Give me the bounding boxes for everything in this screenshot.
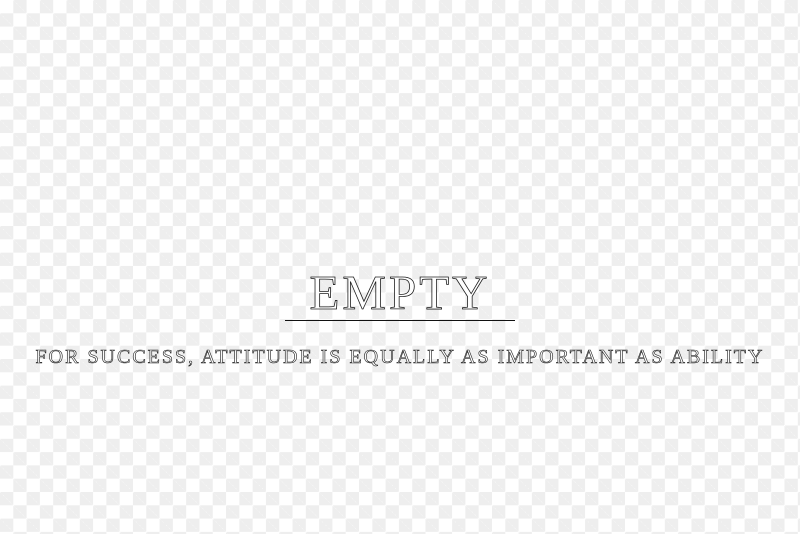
tagline-text: FOR SUCCESS, ATTITUDE IS EQUALLY AS IMPO… bbox=[36, 347, 765, 367]
transparent-canvas: EMPTY FOR SUCCESS, ATTITUDE IS EQUALLY A… bbox=[0, 0, 800, 534]
tagline-row: FOR SUCCESS, ATTITUDE IS EQUALLY AS IMPO… bbox=[0, 347, 800, 367]
artwork-block: EMPTY FOR SUCCESS, ATTITUDE IS EQUALLY A… bbox=[0, 268, 800, 367]
headline-text: EMPTY bbox=[305, 268, 494, 317]
divider-row bbox=[0, 320, 800, 338]
headline-row: EMPTY bbox=[0, 268, 800, 317]
horizontal-rule-divider bbox=[285, 320, 515, 321]
